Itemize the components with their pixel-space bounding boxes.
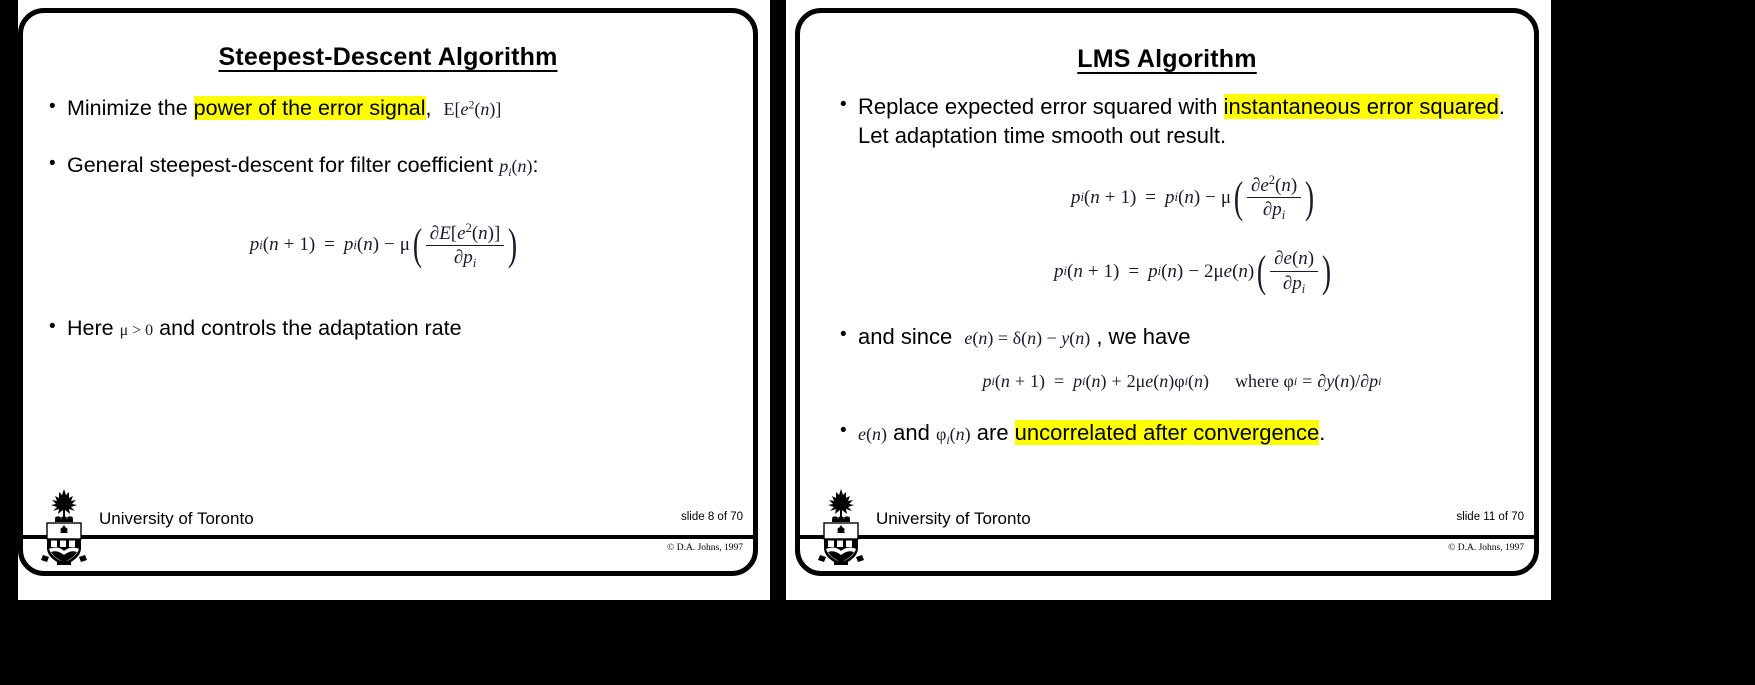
canvas-edge-right	[1551, 0, 1755, 685]
uoft-crest-logo	[812, 485, 870, 565]
list-item: • and since e(n) = δ(n) − y(n) , we have	[840, 322, 1518, 351]
inline-math-error-definition: e(n) = δ(n) − y(n)	[964, 328, 1090, 348]
slide-body-left: • Minimize the power of the error signal…	[23, 94, 753, 343]
footer-organization: University of Toronto	[99, 509, 254, 529]
bullet-glyph: •	[49, 151, 67, 176]
bullet-text-post: .	[1319, 420, 1325, 445]
bullet-glyph: •	[840, 322, 858, 347]
inline-math-expected-error-squared: E[e2(n)]	[443, 99, 501, 119]
bullet-text-mid: and	[887, 420, 936, 445]
equation-lms-update-2: pi(n+1) = pi(n) − 2μe(n) ( ∂e(n) ∂pi )	[870, 248, 1518, 295]
slide-footer-left: University of Toronto slide 8 of 70 © D.…	[23, 479, 753, 571]
footer-rule	[800, 535, 1534, 539]
inline-math-phi-i-n: φi(n)	[936, 424, 971, 444]
equation-lms-final: pi(n+1) = pi(n) + 2μe(n)φi(n) where φi =…	[846, 371, 1518, 392]
bullet-text-post: :	[533, 153, 539, 177]
canvas-gutter	[770, 0, 786, 685]
bullet-text: Replace expected error squared with inst…	[858, 92, 1518, 151]
bullet-text-pre: General steepest-descent for filter coef…	[67, 153, 499, 177]
canvas-edge-left	[0, 0, 18, 685]
page-title: LMS Algorithm	[800, 45, 1534, 74]
bullet-text: and since e(n) = δ(n) − y(n) , we have	[858, 322, 1518, 351]
copyright-notice: © D.A. Johns, 1997	[667, 543, 743, 553]
bullet-text: e(n) and φi(n) are uncorrelated after co…	[858, 418, 1518, 449]
bullet-text: General steepest-descent for filter coef…	[67, 151, 731, 181]
list-item: • Replace expected error squared with in…	[840, 92, 1518, 151]
inline-math-mu-greater-zero: μ > 0	[120, 322, 154, 339]
bullet-glyph: •	[840, 92, 858, 117]
list-item: • e(n) and φi(n) are uncorrelated after …	[840, 418, 1518, 449]
highlight-instantaneous-error-squared: instantaneous error squared	[1224, 94, 1499, 119]
slide-body-right: • Replace expected error squared with in…	[800, 92, 1534, 449]
bullet-text-pre: and since	[858, 324, 958, 349]
slide-steepest-descent[interactable]: Steepest-Descent Algorithm • Minimize th…	[18, 8, 758, 576]
slide-number: slide 8 of 70	[681, 511, 743, 523]
highlight-uncorrelated-after-convergence: uncorrelated after convergence	[1015, 420, 1320, 445]
inline-math-pi-n: pi(n)	[499, 156, 532, 176]
copyright-notice: © D.A. Johns, 1997	[1448, 543, 1524, 553]
bullet-text-pre: Replace expected error squared with	[858, 94, 1224, 119]
bullet-glyph: •	[840, 418, 858, 443]
slide-footer-right: University of Toronto slide 11 of 70 © D…	[800, 479, 1534, 571]
bullet-text-post2: are	[971, 420, 1015, 445]
list-item: • General steepest-descent for filter co…	[49, 151, 731, 181]
footer-organization: University of Toronto	[876, 509, 1031, 529]
uoft-crest-logo	[35, 485, 93, 565]
bullet-text-post: ,	[426, 96, 432, 120]
page-title: Steepest-Descent Algorithm	[23, 43, 753, 72]
bullet-text: Minimize the power of the error signal, …	[67, 94, 731, 123]
list-item: • Here μ > 0 and controls the adaptation…	[49, 314, 731, 343]
bullet-text-post: , we have	[1090, 324, 1190, 349]
bullet-text-pre: Minimize the	[67, 96, 194, 120]
inline-math-e-n: e(n)	[858, 424, 887, 444]
equation-steepest-descent-update: pi(n+1) = pi(n) − μ ( ∂E[e2(n)] ∂pi )	[39, 221, 731, 270]
bullet-text-post: and controls the adaptation rate	[153, 316, 461, 340]
slide-number: slide 11 of 70	[1456, 511, 1524, 523]
slide-lms-algorithm[interactable]: LMS Algorithm • Replace expected error s…	[795, 8, 1539, 576]
bullet-glyph: •	[49, 94, 67, 119]
equation-lms-update-1: pi(n+1) = pi(n) − μ ( ∂e2(n) ∂pi )	[870, 173, 1518, 222]
bullet-text: Here μ > 0 and controls the adaptation r…	[67, 314, 731, 343]
footer-rule	[23, 535, 753, 539]
list-item: • Minimize the power of the error signal…	[49, 94, 731, 123]
highlight-power-of-error-signal: power of the error signal	[194, 96, 426, 120]
bullet-text-pre: Here	[67, 316, 120, 340]
bullet-glyph: •	[49, 314, 67, 339]
canvas-edge-bottom	[0, 600, 1755, 685]
slide-pair-canvas: Steepest-Descent Algorithm • Minimize th…	[0, 0, 1755, 685]
